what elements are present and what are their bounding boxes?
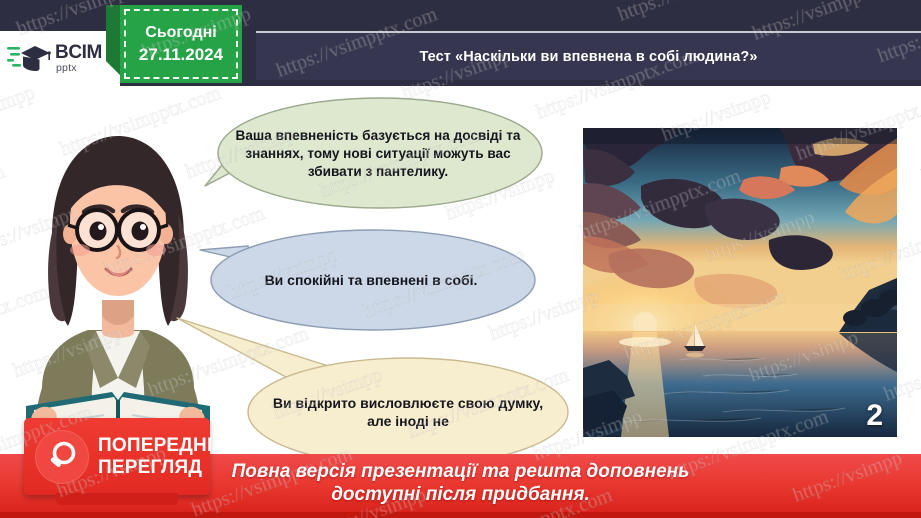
slide-picture: 2 [583, 128, 897, 437]
magnifier-icon [35, 430, 89, 484]
banner-text: Повна версія презентації та решта доповн… [232, 460, 690, 506]
character-illustration [8, 88, 223, 454]
speech-bubble-blue: Ви спокійні та впевнені в собі. [206, 228, 536, 332]
banner-line-1: Повна версія презентації та решта доповн… [232, 460, 690, 483]
preview-badge-label: ПОПЕРЕДНІЙ ПЕРЕГЛЯД [98, 436, 226, 477]
preview-badge-line-1: ПОПЕРЕДНІЙ [98, 436, 226, 455]
slide-stage: Тест «Наскільки ви впевнена в собі людин… [0, 0, 921, 518]
logo-sub-text: pptx [56, 63, 102, 74]
banner-line-2: доступні після придбання. [232, 483, 690, 506]
page-number: 2 [866, 399, 883, 433]
bubble-green-text: Ваша впевненість базується на досвіді та… [213, 127, 543, 181]
date-value: 27.11.2024 [139, 45, 223, 65]
brand-logo: BCIM pptx [0, 31, 120, 86]
page-title: Тест «Наскільки ви впевнена в собі людин… [419, 49, 757, 65]
preview-badge-line-2: ПЕРЕГЛЯД [98, 458, 226, 477]
logo-wordmark: BCIM pptx [55, 43, 102, 74]
preview-badge[interactable]: ПОПЕРЕДНІЙ ПЕРЕГЛЯД [24, 418, 210, 495]
bubble-cream-text: Ви відкрито висловлюєте свою думку, але … [245, 394, 571, 431]
header-title-bar: Тест «Наскільки ви впевнена в собі людин… [256, 31, 921, 80]
logo-main-text: BCIM [55, 43, 102, 62]
banner-bottom-strip [0, 512, 921, 518]
speech-bubble-green: Ваша впевненість базується на досвіді та… [213, 96, 543, 212]
speech-bubble-cream: Ви відкрито висловлюєте свою думку, але … [245, 356, 571, 468]
date-badge: Сьогодні 27.11.2024 [120, 5, 242, 83]
graduation-cap-icon [7, 42, 51, 76]
date-label: Сьогодні [145, 24, 216, 42]
bubble-blue-text: Ви спокійні та впевнені в собі. [247, 271, 496, 289]
